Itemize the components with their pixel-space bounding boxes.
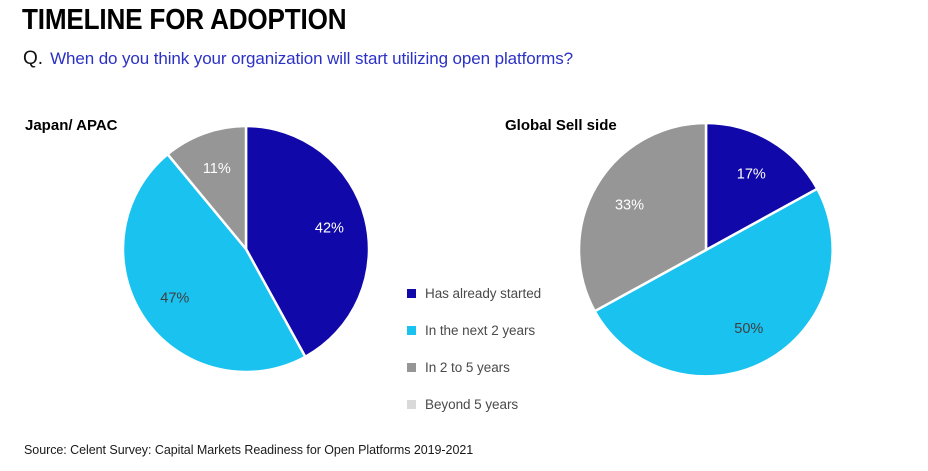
page-title: TIMELINE FOR ADOPTION [22, 4, 346, 37]
question-prefix: Q. [23, 48, 43, 70]
pie-slice-label: 47% [160, 290, 189, 306]
legend-item-has-already-started[interactable]: Has already started [407, 285, 541, 301]
pie-svg-global-sell-side: 17%50%33% [576, 120, 840, 384]
source-note: Source: Celent Survey: Capital Markets R… [24, 443, 473, 457]
pie-slice-label: 42% [315, 221, 344, 237]
legend-label-beyond-5-years: Beyond 5 years [425, 397, 518, 412]
legend-label-in-2-to-5-years: In 2 to 5 years [425, 360, 510, 375]
legend-item-in-the-next-2-years[interactable]: In the next 2 years [407, 322, 541, 338]
chart-legend: Has already started In the next 2 years … [407, 285, 541, 433]
legend-label-has-already-started: Has already started [425, 286, 541, 301]
chart-title-japan-apac: Japan/ APAC [25, 117, 118, 134]
legend-swatch-in-the-next-2-years [407, 326, 416, 335]
legend-swatch-beyond-5-years [407, 400, 416, 409]
pie-chart-japan-apac: 42%47%11% [118, 121, 378, 381]
legend-swatch-in-2-to-5-years [407, 363, 416, 372]
pie-slice-label: 33% [615, 198, 644, 214]
pie-svg-japan-apac: 42%47%11% [118, 121, 378, 381]
legend-item-in-2-to-5-years[interactable]: In 2 to 5 years [407, 359, 541, 375]
slide-canvas: TIMELINE FOR ADOPTION Q. When do you thi… [0, 0, 928, 471]
question-text: When do you think your organization will… [50, 49, 573, 69]
pie-slice-label: 50% [734, 321, 763, 337]
pie-chart-global-sell-side: 17%50%33% [576, 120, 840, 384]
pie-slice-label: 17% [737, 167, 766, 183]
legend-label-in-the-next-2-years: In the next 2 years [425, 323, 535, 338]
legend-item-beyond-5-years[interactable]: Beyond 5 years [407, 396, 541, 412]
pie-slice-label: 11% [203, 161, 231, 177]
legend-swatch-has-already-started [407, 289, 416, 298]
question-row: Q. When do you think your organization w… [23, 48, 573, 70]
